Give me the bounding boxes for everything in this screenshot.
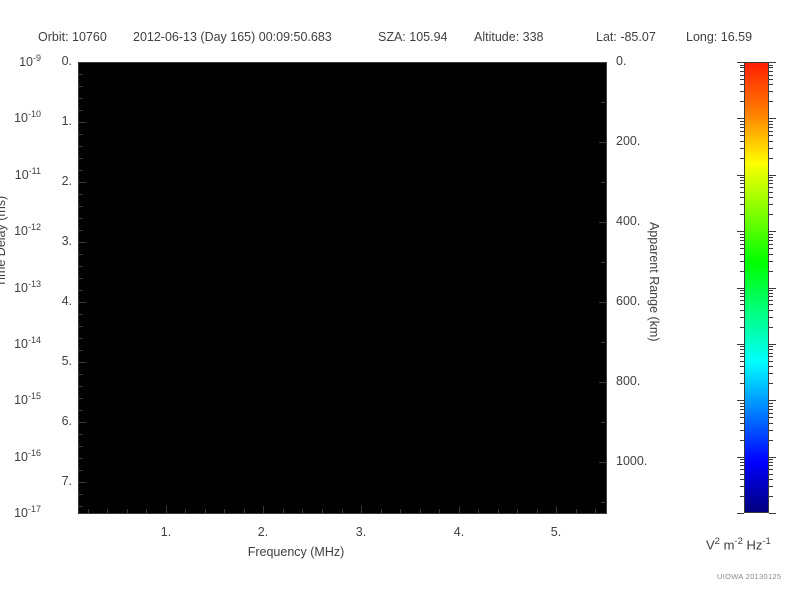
colorbar-tick-label: 10-13 [0, 279, 41, 295]
ionogram-figure: Orbit: 10760 2012-06-13 (Day 165) 00:09:… [0, 0, 800, 600]
colorbar-tick-label: 10-11 [0, 166, 41, 182]
figure-credit: UIOWA 20130125 [717, 572, 781, 581]
colorbar-tick-label: 10-17 [0, 504, 41, 520]
colorbar-tick-label: 10-9 [0, 53, 41, 69]
colorbar-tick-label: 10-16 [0, 448, 41, 464]
colorbar-tick-label: 10-10 [0, 109, 41, 125]
colorbar-tick-label: 10-15 [0, 391, 41, 407]
colorbar-tick-label: 10-14 [0, 335, 41, 351]
colorbar-tick-label: 10-12 [0, 222, 41, 238]
colorbar-units-label: V2 m-2 Hz-1 [706, 536, 771, 552]
colorbar-tick-labels: 10-910-1010-1110-1210-1310-1410-1510-161… [0, 0, 800, 600]
